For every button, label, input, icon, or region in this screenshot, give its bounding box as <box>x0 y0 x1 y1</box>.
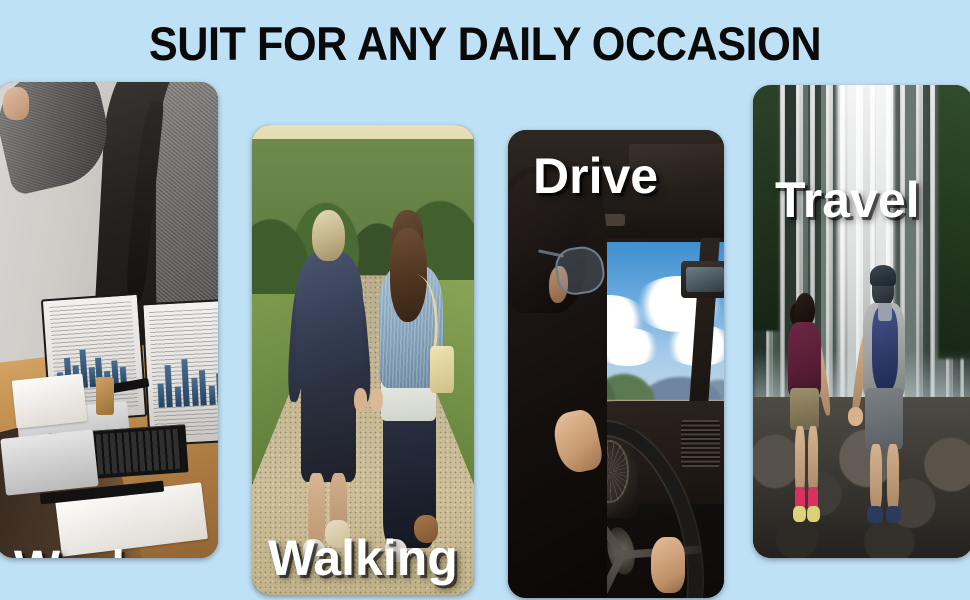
screen-bar-chart-right <box>153 354 218 408</box>
occasion-card-travel: Travel <box>753 85 970 558</box>
occasion-card-work: Work <box>0 82 218 558</box>
man-shoe-left <box>867 506 882 523</box>
air-vent <box>681 420 720 467</box>
man-shoe-right <box>886 506 901 523</box>
man-shorts <box>301 384 357 483</box>
man-leg-left <box>870 444 882 510</box>
work-scene-image <box>0 82 218 558</box>
man-sweatshirt <box>296 252 363 393</box>
side-mirror <box>681 261 724 298</box>
woman-leg-left <box>795 426 805 497</box>
man-shorts <box>865 388 902 449</box>
foliage-right <box>938 85 970 359</box>
occasion-card-walking: Walking <box>252 125 474 595</box>
backpack-top-strap <box>878 303 891 322</box>
page-title: SUIT FOR ANY DAILY OCCASION <box>39 19 931 69</box>
man-leg-right <box>887 444 899 510</box>
man-head <box>312 210 345 262</box>
shoulder-bag <box>430 346 454 393</box>
occasion-label-work: Work <box>14 541 140 558</box>
hand <box>3 87 30 120</box>
laptop-base-right <box>0 430 99 497</box>
driver-hand-lower <box>651 537 686 593</box>
walking-scene-image <box>252 125 474 595</box>
man-cap <box>870 265 896 286</box>
man-hand <box>354 388 367 412</box>
occasion-label-walking: Walking <box>268 529 458 587</box>
woman-tshirt <box>788 322 821 398</box>
woman-shoe-left <box>793 506 806 522</box>
travel-scene-image <box>753 85 970 558</box>
woman-shorts <box>790 388 819 431</box>
occasion-label-drive: Drive <box>533 147 658 205</box>
cup <box>96 377 114 415</box>
occasion-label-travel: Travel <box>775 171 920 229</box>
woman-leg-right <box>808 426 818 497</box>
woman-hand <box>370 388 383 412</box>
notebook-paper <box>11 374 87 429</box>
woman-shoe-right <box>807 506 820 522</box>
occasion-card-drive: Drive <box>508 130 724 598</box>
held-hands <box>848 407 863 426</box>
